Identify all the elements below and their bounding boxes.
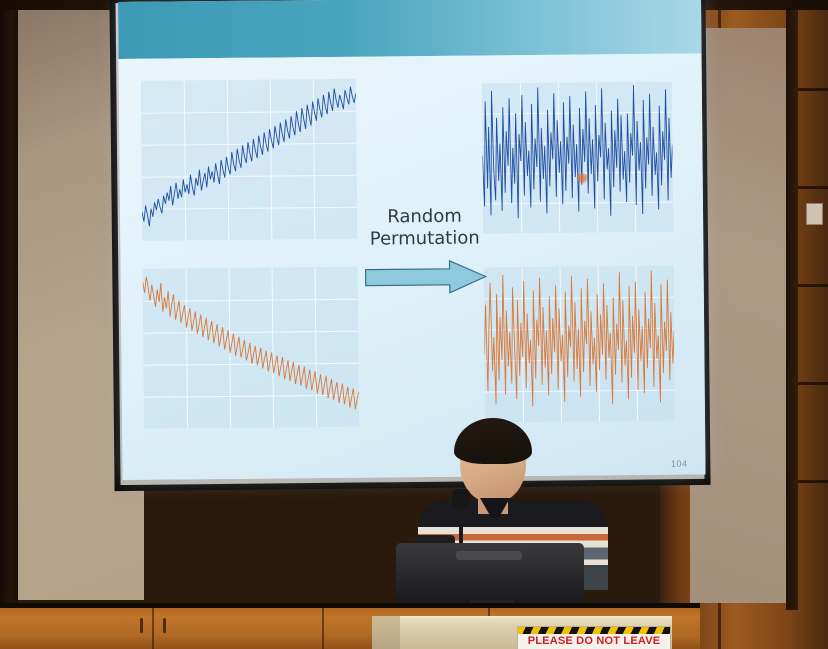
chart-line-original-orange bbox=[143, 267, 360, 429]
chart-original-orange bbox=[143, 267, 360, 429]
right-dark-frame bbox=[786, 0, 798, 610]
left-dark-frame bbox=[0, 0, 18, 608]
hazard-stripe-icon bbox=[518, 627, 670, 634]
laser-pointer-dot bbox=[577, 172, 588, 183]
presenter-hair bbox=[454, 418, 532, 464]
random-permutation-line2: Permutation bbox=[367, 227, 482, 250]
slide-header-band bbox=[118, 0, 702, 59]
podium-side-panel bbox=[372, 616, 400, 649]
cabinet-handle[interactable] bbox=[163, 618, 166, 633]
cabinet-top-shadow bbox=[0, 603, 700, 608]
slide-body: Random Permutation 104 bbox=[119, 53, 706, 480]
random-permutation-label: Random Permutation bbox=[367, 206, 482, 251]
cabinet-handle[interactable] bbox=[140, 618, 143, 633]
warning-sign-text: PLEASE DO NOT LEAVE bbox=[518, 635, 670, 647]
right-arrow-icon bbox=[363, 258, 487, 295]
projected-slide: Random Permutation 104 bbox=[118, 0, 706, 480]
chart-line-original-blue bbox=[141, 79, 358, 241]
light-switch-plate[interactable] bbox=[806, 203, 823, 225]
chart-line-permuted-orange bbox=[484, 266, 675, 423]
slide-page-number: 104 bbox=[671, 459, 688, 469]
chart-permuted-blue bbox=[482, 82, 673, 234]
warning-sign: PLEASE DO NOT LEAVE bbox=[517, 626, 671, 649]
random-permutation-line1: Random bbox=[367, 206, 482, 229]
monitor-vent bbox=[456, 551, 522, 560]
chart-permuted-orange bbox=[484, 266, 675, 423]
conference-room-photo: Random Permutation 104 bbox=[0, 0, 828, 649]
chart-line-permuted-blue bbox=[482, 82, 673, 234]
microphone-head bbox=[452, 489, 470, 509]
chart-original-blue bbox=[141, 79, 358, 241]
